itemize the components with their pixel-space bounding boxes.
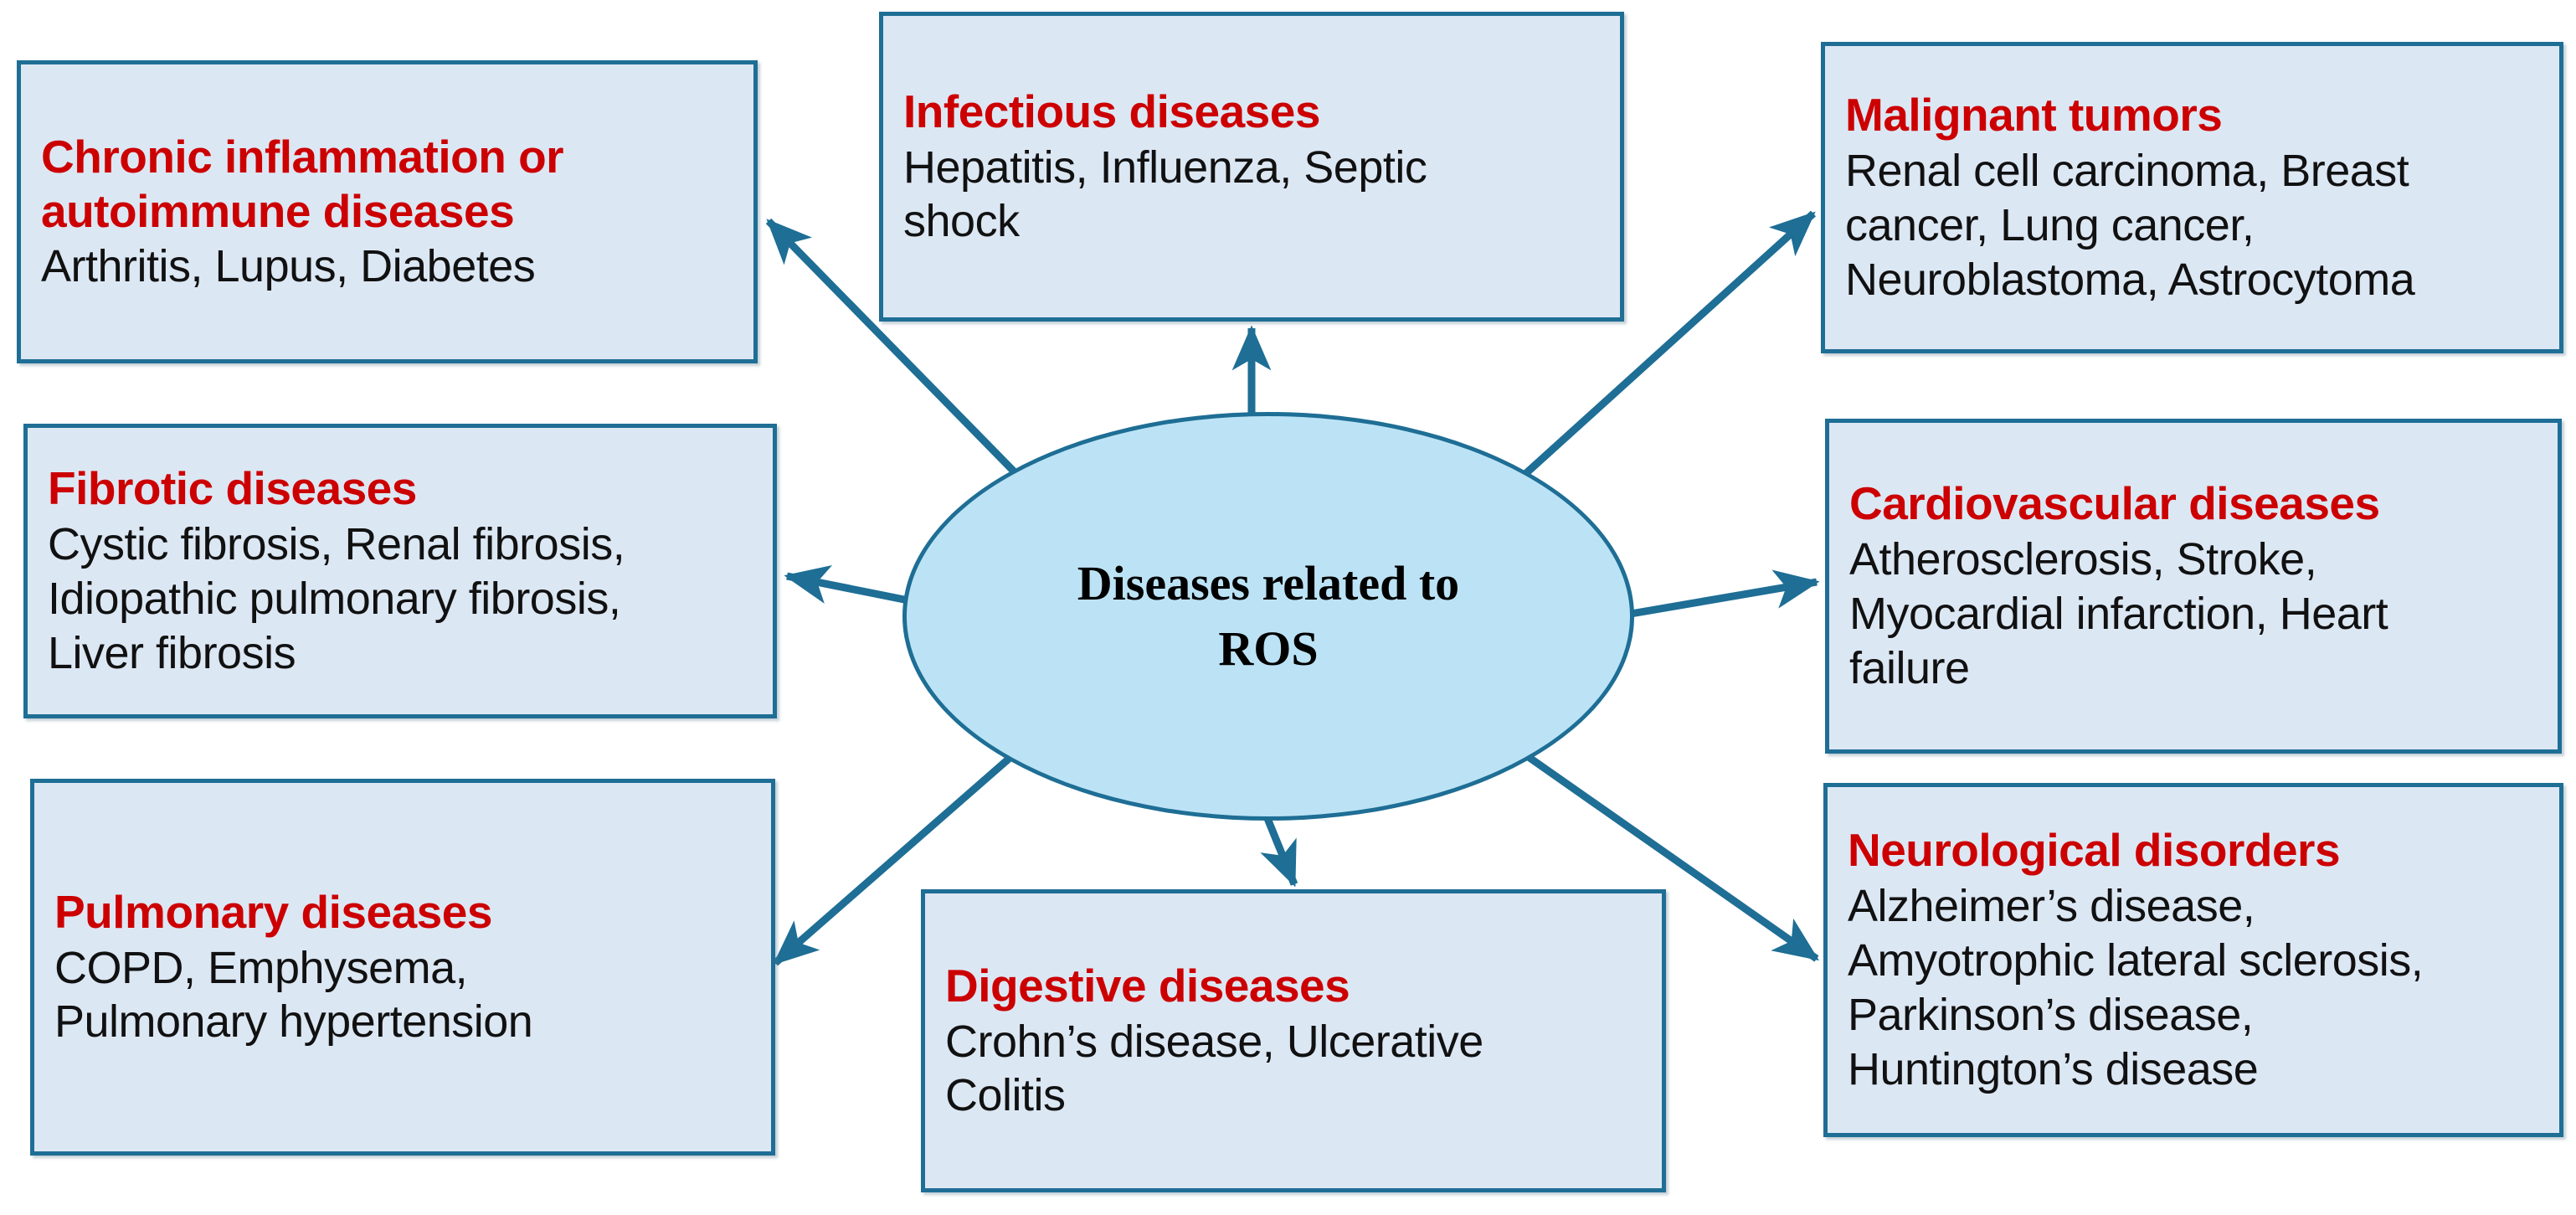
node-box-fibrotic-diseases[interactable]: Fibrotic diseases Cystic fibrosis, Renal… (23, 424, 777, 718)
central-node-label: Diseases related to ROS (1077, 551, 1459, 682)
node-body-fibrotic-diseases: Cystic fibrosis, Renal fibrosis, Idiopat… (48, 517, 754, 680)
diagram-canvas: Chronic inflammation or autoimmune disea… (0, 0, 2576, 1215)
node-body-digestive-diseases: Crohn’s disease, Ulcerative Colitis (945, 1015, 1643, 1124)
node-title-malignant-tumors: Malignant tumors (1845, 88, 2541, 142)
node-box-infectious-diseases[interactable]: Infectious diseases Hepatitis, Influenza… (879, 12, 1624, 322)
central-node-diseases-related-to-ros[interactable]: Diseases related to ROS (902, 412, 1634, 821)
node-body-malignant-tumors: Renal cell carcinoma, Breast cancer, Lun… (1845, 144, 2541, 306)
node-box-pulmonary-diseases[interactable]: Pulmonary diseases COPD, Emphysema, Pulm… (30, 779, 775, 1156)
node-title-chronic-inflammation: Chronic inflammation or autoimmune disea… (41, 130, 735, 239)
connector-center-to-digestive (1267, 816, 1294, 884)
connector-center-to-fibrotic (787, 576, 913, 601)
node-title-pulmonary-diseases: Pulmonary diseases (54, 885, 753, 940)
node-box-malignant-tumors[interactable]: Malignant tumors Renal cell carcinoma, B… (1821, 42, 2563, 353)
node-body-chronic-inflammation: Arthritis, Lupus, Diabetes (41, 239, 735, 294)
node-title-digestive-diseases: Digestive diseases (945, 959, 1643, 1013)
node-title-neurological-disorders: Neurological disorders (1848, 823, 2541, 878)
node-body-neurological-disorders: Alzheimer’s disease, Amyotrophic lateral… (1848, 879, 2541, 1096)
connector-center-to-cardiovascular (1631, 582, 1817, 614)
node-box-digestive-diseases[interactable]: Digestive diseases Crohn’s disease, Ulce… (921, 889, 1666, 1192)
node-body-infectious-diseases: Hepatitis, Influenza, Septic shock (903, 141, 1602, 250)
node-title-infectious-diseases: Infectious diseases (903, 85, 1602, 139)
node-title-fibrotic-diseases: Fibrotic diseases (48, 461, 754, 516)
node-box-cardiovascular-diseases[interactable]: Cardiovascular diseases Atherosclerosis,… (1825, 419, 2562, 754)
node-box-chronic-inflammation[interactable]: Chronic inflammation or autoimmune disea… (17, 60, 758, 363)
node-body-cardiovascular-diseases: Atherosclerosis, Stroke, Myocardial infa… (1849, 533, 2539, 695)
node-box-neurological-disorders[interactable]: Neurological disorders Alzheimer’s disea… (1823, 783, 2563, 1137)
node-title-cardiovascular-diseases: Cardiovascular diseases (1849, 476, 2539, 531)
node-body-pulmonary-diseases: COPD, Emphysema, Pulmonary hypertension (54, 941, 753, 1050)
